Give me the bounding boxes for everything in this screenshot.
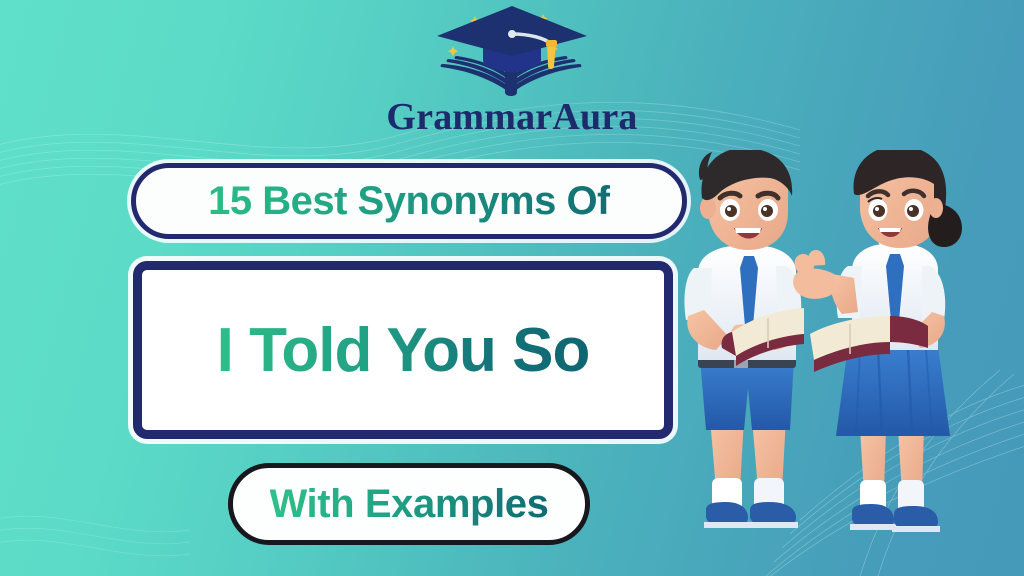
- headline-title-box: I Told You So: [133, 261, 673, 439]
- headline-footer-pill: With Examples: [228, 463, 590, 545]
- boy-ear: [700, 197, 716, 219]
- brand-logo: GrammarAura: [0, 4, 1024, 136]
- headline-eyebrow-text: 15 Best Synonyms Of: [208, 179, 610, 224]
- graduation-cap-book-icon: [417, 4, 607, 96]
- boy-shorts: [700, 358, 794, 430]
- headline-eyebrow-pill: 15 Best Synonyms Of: [131, 163, 687, 239]
- girl-ear: [929, 198, 943, 218]
- brand-name: GrammarAura: [386, 98, 637, 136]
- girl-open-hand: [793, 268, 838, 299]
- students-illustration: [682, 150, 1018, 576]
- headline-footer-text: With Examples: [270, 482, 549, 527]
- girl-skirt: [836, 346, 950, 436]
- page-title: I Told You So: [217, 315, 590, 386]
- girl-right-sleeve: [922, 266, 945, 320]
